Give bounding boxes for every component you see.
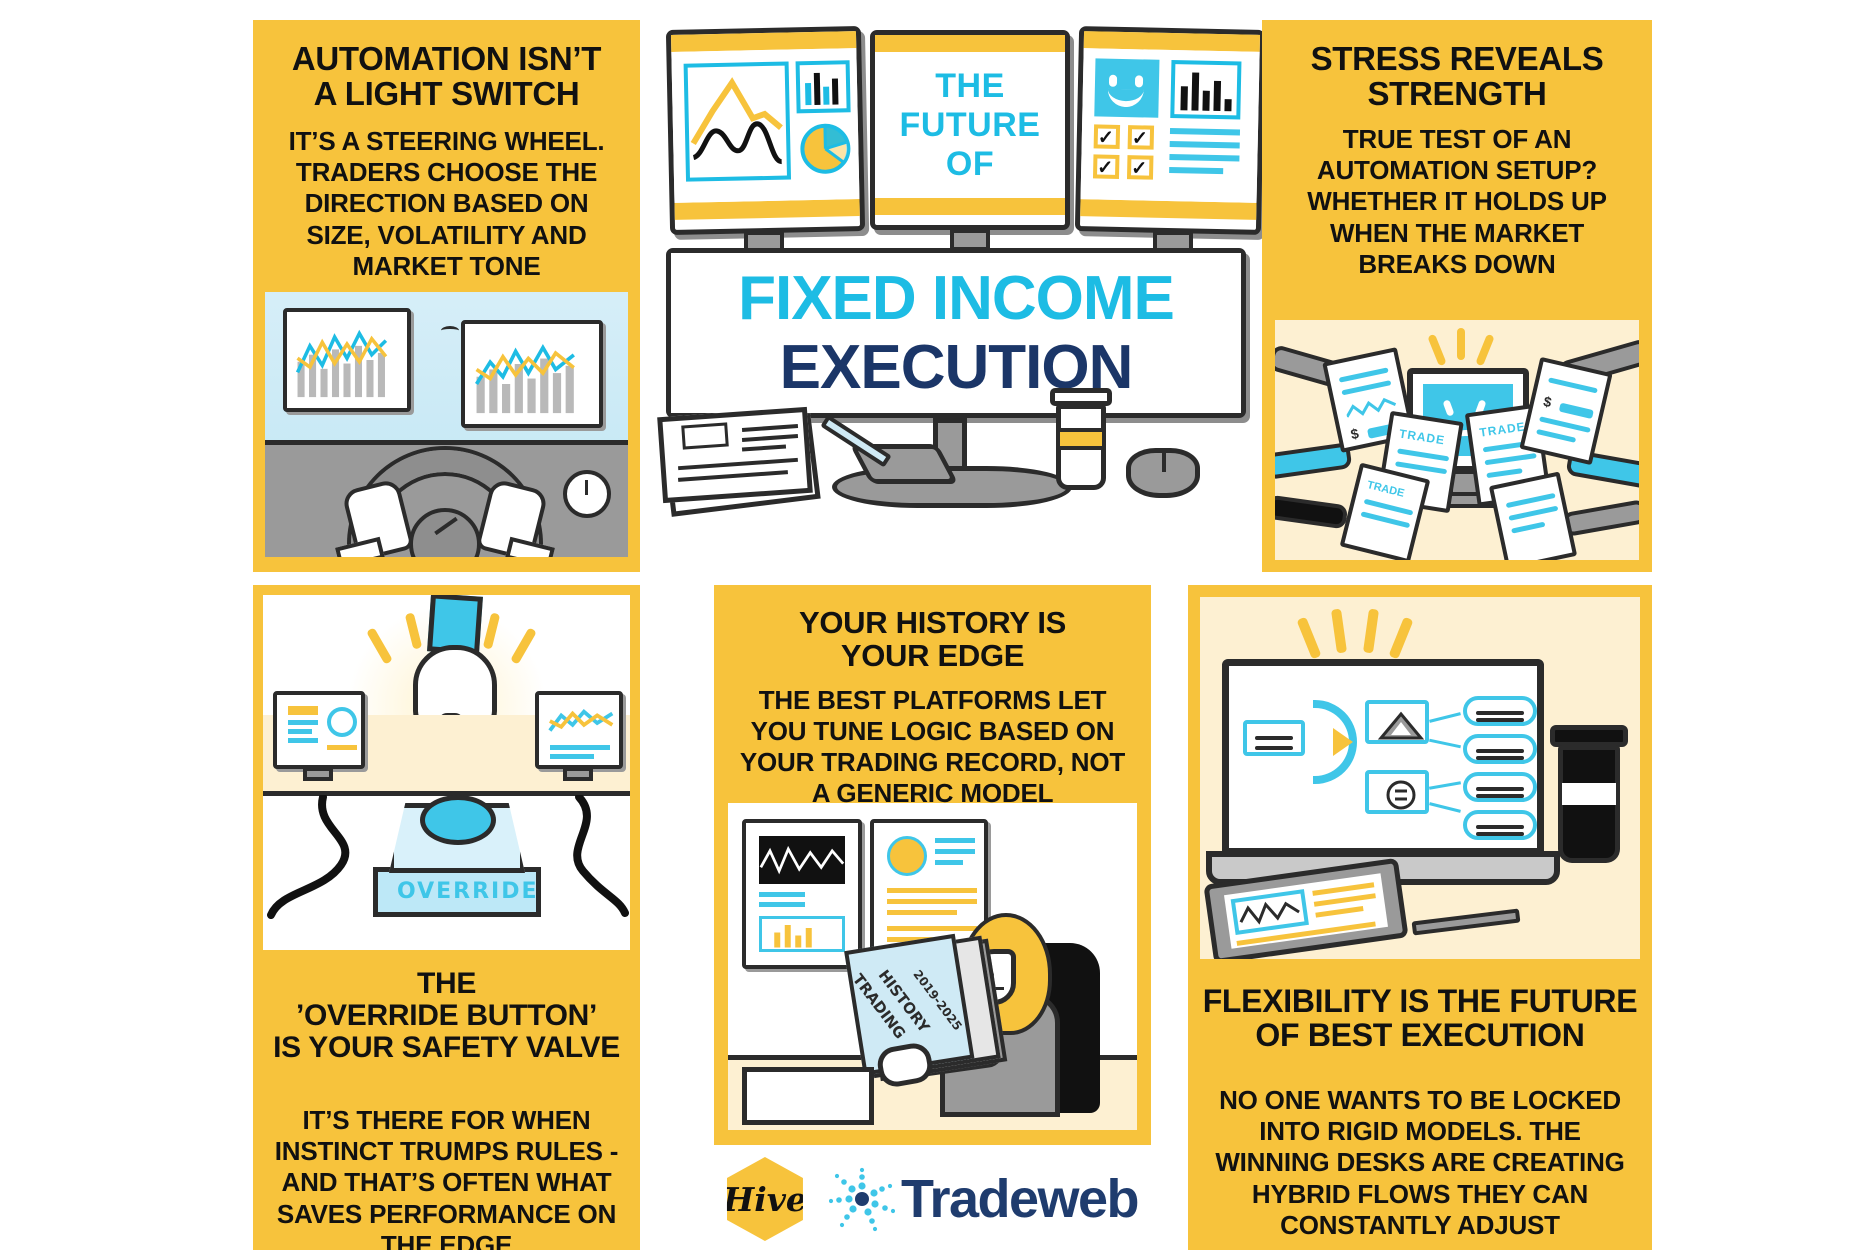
panel-your-history-your-edge: YOUR HISTORY IS YOUR EDGE THE BEST PLATF… (714, 585, 1151, 1145)
alert-triangle-icon (1373, 708, 1429, 744)
panel-headline: AUTOMATION ISN’T A LIGHT SWITCH (253, 20, 640, 112)
doc-line (1361, 511, 1411, 528)
doc-line (1559, 403, 1594, 419)
override-label: OVERRIDE (397, 879, 539, 904)
doc-line (1341, 380, 1391, 395)
bird-icon (441, 326, 459, 335)
trade-ticket: TRADE (1340, 463, 1431, 560)
history-monitor-left (742, 819, 862, 969)
sparkline-glyph (548, 705, 618, 741)
desk-papers (656, 404, 826, 514)
trade-label: TRADE (1479, 419, 1527, 439)
headline-line-1: THE (253, 968, 640, 1000)
headline-line-2: OF BEST EXECUTION (1188, 1019, 1652, 1053)
flow-connector (1429, 712, 1461, 723)
panel-headline: STRESS REVEALS STRENGTH (1262, 20, 1652, 112)
mouse-button-split (1162, 450, 1166, 472)
impact-ray (1331, 609, 1347, 654)
hero-of: OF (875, 147, 1065, 181)
stress-ray (1427, 334, 1446, 367)
headline-line-1: YOUR HISTORY IS (732, 607, 1133, 640)
stress-ray (1475, 334, 1494, 367)
doc-line (1485, 453, 1537, 465)
hive-wordmark: Hive (723, 1180, 807, 1219)
side-monitor-right-stand (563, 767, 593, 781)
trade-ticket: $ (1519, 357, 1612, 465)
currency-symbol: $ (1349, 425, 1360, 442)
flow-connector (1429, 739, 1461, 749)
flow-node-doc (1365, 770, 1429, 814)
monitor-right: ✓ ✓ ✓ ✓ (1075, 26, 1265, 235)
steering-wheel-illustration (265, 292, 628, 557)
headline-line-2: STRENGTH (1280, 77, 1634, 112)
side-monitor-left (273, 691, 365, 769)
hero-the: THE (875, 69, 1065, 103)
panel-hero-monitors: THE FUTURE OF (648, 16, 1253, 578)
pie-svg (799, 122, 852, 175)
panel-flexibility-best-execution: FLEXIBILITY IS THE FUTURE OF BEST EXECUT… (1188, 585, 1652, 1250)
trading-screen-left (283, 308, 411, 412)
doc-line (1511, 522, 1545, 534)
flow-node-alert (1365, 700, 1429, 744)
clock-hand (585, 480, 588, 495)
tradeweb-starburst-icon (829, 1166, 895, 1232)
monitor-bottom-bar (875, 198, 1065, 215)
headline-line-1: STRESS REVEALS (1280, 42, 1634, 77)
tradeweb-wordmark: Tradeweb (901, 1168, 1138, 1230)
flow-output-pill (1463, 810, 1537, 840)
impact-ray (1296, 617, 1321, 660)
bar-chart-panel (796, 60, 851, 113)
doc-line (1506, 493, 1556, 508)
coffee-cup (1550, 725, 1628, 871)
coffee-cup (1050, 388, 1112, 498)
panel-headline: YOUR HISTORY IS YOUR EDGE (714, 585, 1151, 673)
text-lines-glyph (1169, 128, 1240, 174)
trading-screen-right (461, 320, 603, 428)
doc-line (1339, 367, 1389, 382)
panel-override-button: OVERRIDE THE ’OVERRIDE BUTTON’ IS YOUR S… (253, 585, 640, 1250)
title-fixed-income: FIXED INCOME (738, 268, 1174, 330)
monitor-center-screen: THE FUTURE OF (875, 52, 1065, 198)
panel-stress-reveals-strength: STRESS REVEALS STRENGTH TRUE TEST OF AN … (1262, 20, 1652, 572)
panel-body-text: IT’S A STEERING WHEEL. TRADERS CHOOSE TH… (253, 112, 640, 282)
monitor-top-bar (875, 35, 1065, 52)
desk-drawer (742, 1067, 874, 1125)
doc-line (1548, 377, 1598, 393)
wave-glyph (759, 836, 845, 884)
bar-chart-tile (1170, 60, 1241, 119)
logo-bar: Hive Tradeweb (714, 1155, 1151, 1243)
trader-with-history-illustration: TRADING HISTORY 2019-2025 (728, 803, 1137, 1130)
laptop-workflow-illustration (1200, 597, 1640, 959)
headline-line-2: YOUR EDGE (732, 640, 1133, 673)
stress-ray (1457, 328, 1465, 360)
panel-automation-light-switch: AUTOMATION ISN’T A LIGHT SWITCH IT’S A S… (253, 20, 640, 572)
bars-glyph (1174, 64, 1237, 115)
override-button[interactable] (420, 795, 496, 845)
doc-line (1486, 468, 1522, 478)
line-chart-glyph (294, 319, 400, 401)
reaching-arm (1562, 499, 1639, 537)
flow-connector (1429, 781, 1461, 790)
headline-line-1: AUTOMATION ISN’T (271, 42, 622, 77)
main-title-screen: FIXED INCOME EXECUTION (671, 253, 1241, 413)
trade-label: TRADE (1398, 426, 1446, 447)
panel-body-text: TRUE TEST OF AN AUTOMATION SETUP? WHETHE… (1262, 112, 1652, 280)
doc-line (1508, 506, 1558, 521)
side-monitor-right (535, 691, 623, 769)
flow-arrow (1333, 728, 1353, 756)
panel-body-text: IT’S THERE FOR WHEN INSTINCT TRUMPS RULE… (253, 1105, 640, 1250)
monitor-center: THE FUTURE OF (870, 30, 1070, 230)
laptop-screen (1222, 659, 1544, 855)
impact-ray (1363, 609, 1379, 654)
hive-logo[interactable]: Hive (727, 1157, 803, 1241)
flow-output-pill (1463, 734, 1537, 764)
infographic-canvas: AUTOMATION ISN’T A LIGHT SWITCH IT’S A S… (0, 0, 1875, 1250)
doc-line (1397, 448, 1449, 461)
bar-chart-glyph (472, 331, 592, 417)
impact-ray (1388, 617, 1413, 660)
monitor-right-screen: ✓ ✓ ✓ ✓ (1081, 48, 1260, 203)
panel-headline: THE ’OVERRIDE BUTTON’ IS YOUR SAFETY VAL… (253, 968, 640, 1063)
smiley-tile (1094, 58, 1159, 117)
tradeweb-logo[interactable]: Tradeweb (829, 1166, 1138, 1232)
headline-line-3: IS YOUR SAFETY VALVE (253, 1032, 640, 1064)
reaching-arm (1275, 495, 1348, 530)
line-chart-panel (684, 62, 791, 182)
headline-line-1: FLEXIBILITY IS THE FUTURE (1188, 985, 1652, 1019)
panel-body-text: THE BEST PLATFORMS LET YOU TUNE LOGIC BA… (714, 673, 1151, 810)
monitor-main-title: FIXED INCOME EXECUTION (666, 248, 1246, 418)
flow-output-pill (1463, 772, 1537, 802)
pie-chart-glyph (799, 122, 852, 175)
panel-body-text: NO ONE WANTS TO BE LOCKED INTO RIGID MOD… (1188, 1085, 1652, 1241)
currency-symbol: $ (1542, 393, 1553, 410)
monitor-left-screen (671, 48, 859, 203)
override-button-illustration: OVERRIDE (263, 595, 630, 950)
stressed-desk-illustration: $ TRADE TRADE $ (1275, 320, 1639, 560)
hero-future: FUTURE (875, 108, 1065, 142)
bars-glyph (800, 64, 847, 109)
pen-icon (1412, 908, 1521, 935)
panel-headline: FLEXIBILITY IS THE FUTURE OF BEST EXECUT… (1188, 985, 1652, 1053)
monitor-left (666, 26, 865, 235)
side-monitor-left-stand (303, 767, 333, 781)
chart-curves (688, 66, 787, 178)
doc-line (1536, 429, 1576, 443)
flow-connector (1429, 802, 1461, 813)
headline-line-2: A LIGHT SWITCH (271, 77, 622, 112)
wave-glyph (1235, 894, 1304, 931)
trade-ticket (1489, 471, 1577, 560)
trade-label: TRADE (1366, 479, 1406, 500)
doc-icon (1373, 777, 1429, 813)
bar-glyph (762, 919, 842, 949)
pen-icon (820, 414, 891, 467)
headline-line-2: ’OVERRIDE BUTTON’ (253, 1000, 640, 1032)
flow-output-pill (1463, 696, 1537, 726)
flow-node-source (1243, 720, 1305, 756)
